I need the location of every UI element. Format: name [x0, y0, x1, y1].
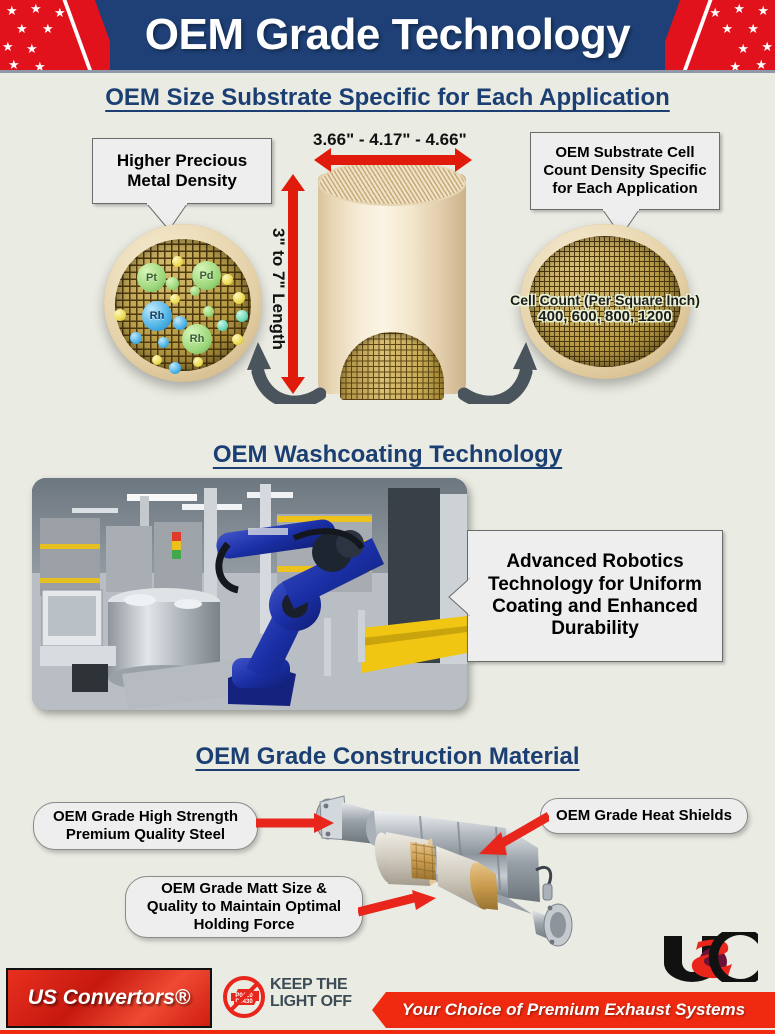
- precious-metal-rh-green: Rh: [182, 324, 212, 354]
- callout-line: OEM Grade Matt Size &: [161, 880, 327, 898]
- keep-the-light-off-text: KEEP THE LIGHT OFF: [270, 977, 352, 1011]
- callout-line: Advanced Robotics: [506, 551, 683, 573]
- heat-shield-arrow-icon: [477, 812, 549, 858]
- usc-logo-icon: [658, 932, 763, 982]
- steel-arrow-icon: [256, 812, 334, 834]
- footer-rule: [0, 1030, 775, 1034]
- particle: [114, 309, 126, 321]
- particle: [217, 320, 228, 331]
- check-engine-light-off-icon: P0420 P0430: [222, 975, 266, 1019]
- tagline-text: Your Choice of Premium Exhaust Systems: [402, 1000, 745, 1020]
- callout-line: Metal Density: [127, 171, 237, 191]
- precious-metal-rh-blue: Rh: [142, 301, 172, 331]
- substrate-cylinder: [318, 160, 466, 400]
- keep-line: KEEP THE: [270, 977, 352, 994]
- precious-metal-substrate-circle: Pt Pd Rh Rh: [104, 224, 262, 382]
- curved-arrow-right-icon: [458, 336, 538, 404]
- honeycomb-mesh: [115, 239, 251, 371]
- particle: [172, 256, 183, 267]
- diameter-label: 3.66" - 4.17" - 4.66": [313, 130, 467, 150]
- washcoat-section-heading: OEM Washcoating Technology: [0, 441, 775, 469]
- advanced-robotics-callout: Advanced Robotics Technology for Uniform…: [467, 530, 723, 662]
- callout-line: Higher Precious: [117, 151, 247, 171]
- curved-arrow-left-icon: [246, 336, 326, 404]
- infographic-page: ★ ★ ★ ★ ★ ★ ★ ★ ★ ★ ★ ★ ★ ★ ★ ★ ★ ★ OEM …: [0, 0, 775, 1034]
- particle: [169, 362, 181, 374]
- callout-line: OEM Substrate Cell: [555, 144, 694, 162]
- cell-count-density-callout: OEM Substrate Cell Count Density Specifi…: [530, 132, 720, 210]
- callout-line: Durability: [551, 618, 639, 640]
- keep-line: LIGHT OFF: [270, 994, 352, 1011]
- callout-line: Quality to Maintain Optimal: [147, 898, 341, 916]
- precious-metal-pd: Pd: [192, 261, 221, 290]
- cell-count-label: Cell Count (Per Square Inch) 400, 600, 8…: [490, 292, 720, 325]
- callout-line: Premium Quality Steel: [66, 826, 225, 844]
- precious-metal-pt: Pt: [137, 263, 166, 292]
- matt-arrow-icon: [358, 890, 436, 920]
- callout-line: OEM Grade Heat Shields: [556, 807, 732, 825]
- particle: [166, 277, 179, 290]
- factory-scene-icon: [32, 478, 467, 710]
- page-header: ★ ★ ★ ★ ★ ★ ★ ★ ★ ★ ★ ★ ★ ★ ★ ★ ★ ★ OEM …: [0, 0, 775, 70]
- callout-line: OEM Grade High Strength: [53, 808, 238, 826]
- particle: [193, 357, 203, 367]
- callout-tail-icon: [449, 579, 469, 615]
- us-convertors-logo: US Convertors®: [6, 968, 212, 1028]
- length-label: 3" to 7" Length: [268, 228, 288, 350]
- particle: [203, 306, 214, 317]
- header-divider: [0, 70, 775, 73]
- page-title: OEM Grade Technology: [0, 0, 775, 70]
- callout-line: Holding Force: [194, 916, 295, 934]
- heat-shield-callout: OEM Grade Heat Shields: [540, 798, 748, 834]
- particle: [222, 274, 233, 285]
- particle: [170, 294, 180, 304]
- matt-callout: OEM Grade Matt Size & Quality to Maintai…: [125, 876, 363, 938]
- callout-line: Coating and Enhanced: [492, 596, 698, 618]
- cell-count-title: Cell Count (Per Square Inch): [490, 292, 720, 308]
- construction-section-heading: OEM Grade Construction Material: [0, 743, 775, 771]
- steel-callout: OEM Grade High Strength Premium Quality …: [33, 802, 258, 850]
- callout-line: Count Density Specific: [543, 162, 706, 180]
- particle: [232, 334, 243, 345]
- substrate-section-heading: OEM Size Substrate Specific for Each App…: [0, 84, 775, 112]
- callout-line: for Each Application: [552, 180, 697, 198]
- pm-label: Rh: [190, 333, 205, 345]
- washcoating-robot-photo: [32, 478, 467, 710]
- particle: [158, 337, 169, 348]
- pm-label: Pd: [199, 270, 213, 282]
- brand-text: US Convertors®: [28, 986, 191, 1010]
- tagline-banner: Your Choice of Premium Exhaust Systems: [372, 992, 775, 1028]
- callout-line: Technology for Uniform: [488, 574, 702, 596]
- diameter-arrow: [330, 155, 456, 165]
- particle: [130, 332, 142, 344]
- particle: [236, 310, 248, 322]
- cell-count-values: 400, 600, 800, 1200: [490, 308, 720, 325]
- usc-logo: [658, 932, 763, 982]
- particle: [173, 316, 187, 330]
- pm-label: Pt: [146, 272, 157, 284]
- higher-precious-metal-density-callout: Higher Precious Metal Density: [92, 138, 272, 204]
- keep-the-light-off-badge: P0420 P0430 KEEP THE LIGHT OFF: [222, 975, 357, 1023]
- particle: [152, 355, 162, 365]
- cylinder-top-face: [318, 160, 466, 206]
- pm-label: Rh: [150, 310, 165, 322]
- particle: [233, 292, 245, 304]
